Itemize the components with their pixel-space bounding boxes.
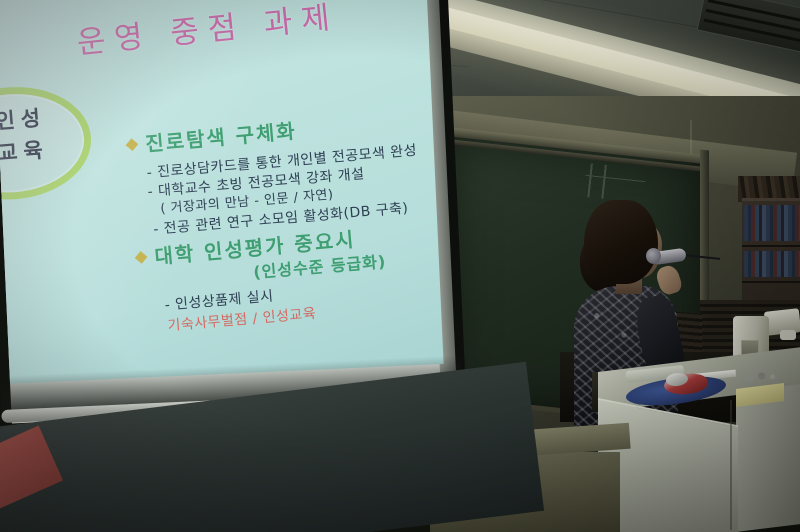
book-row xyxy=(744,205,800,241)
podium-side-panel xyxy=(736,384,800,532)
diamond-bullet-icon xyxy=(135,251,148,264)
water-dispenser-tap xyxy=(780,330,796,340)
chalk-marks xyxy=(583,163,646,203)
book-row xyxy=(744,251,800,277)
hair xyxy=(584,200,658,284)
projected-slide: 운영 중점 과제 인성 교육 진로탐색 구체화 - 진로상담카드를 통한 개인별… xyxy=(0,0,444,384)
shelf-divider xyxy=(742,245,800,247)
classroom-photo: 운영 중점 과제 인성 교육 진로탐색 구체화 - 진로상담카드를 통한 개인별… xyxy=(0,0,800,532)
podium-seam xyxy=(730,400,732,530)
bullet-1-heading: 진로탐색 구체화 xyxy=(144,119,297,156)
slide-body: 진로탐색 구체화 - 진로상담카드를 통한 개인별 전공모색 완성 - 대학교수… xyxy=(0,0,444,384)
diamond-bullet-icon xyxy=(126,138,139,151)
shelf-divider xyxy=(742,281,800,283)
